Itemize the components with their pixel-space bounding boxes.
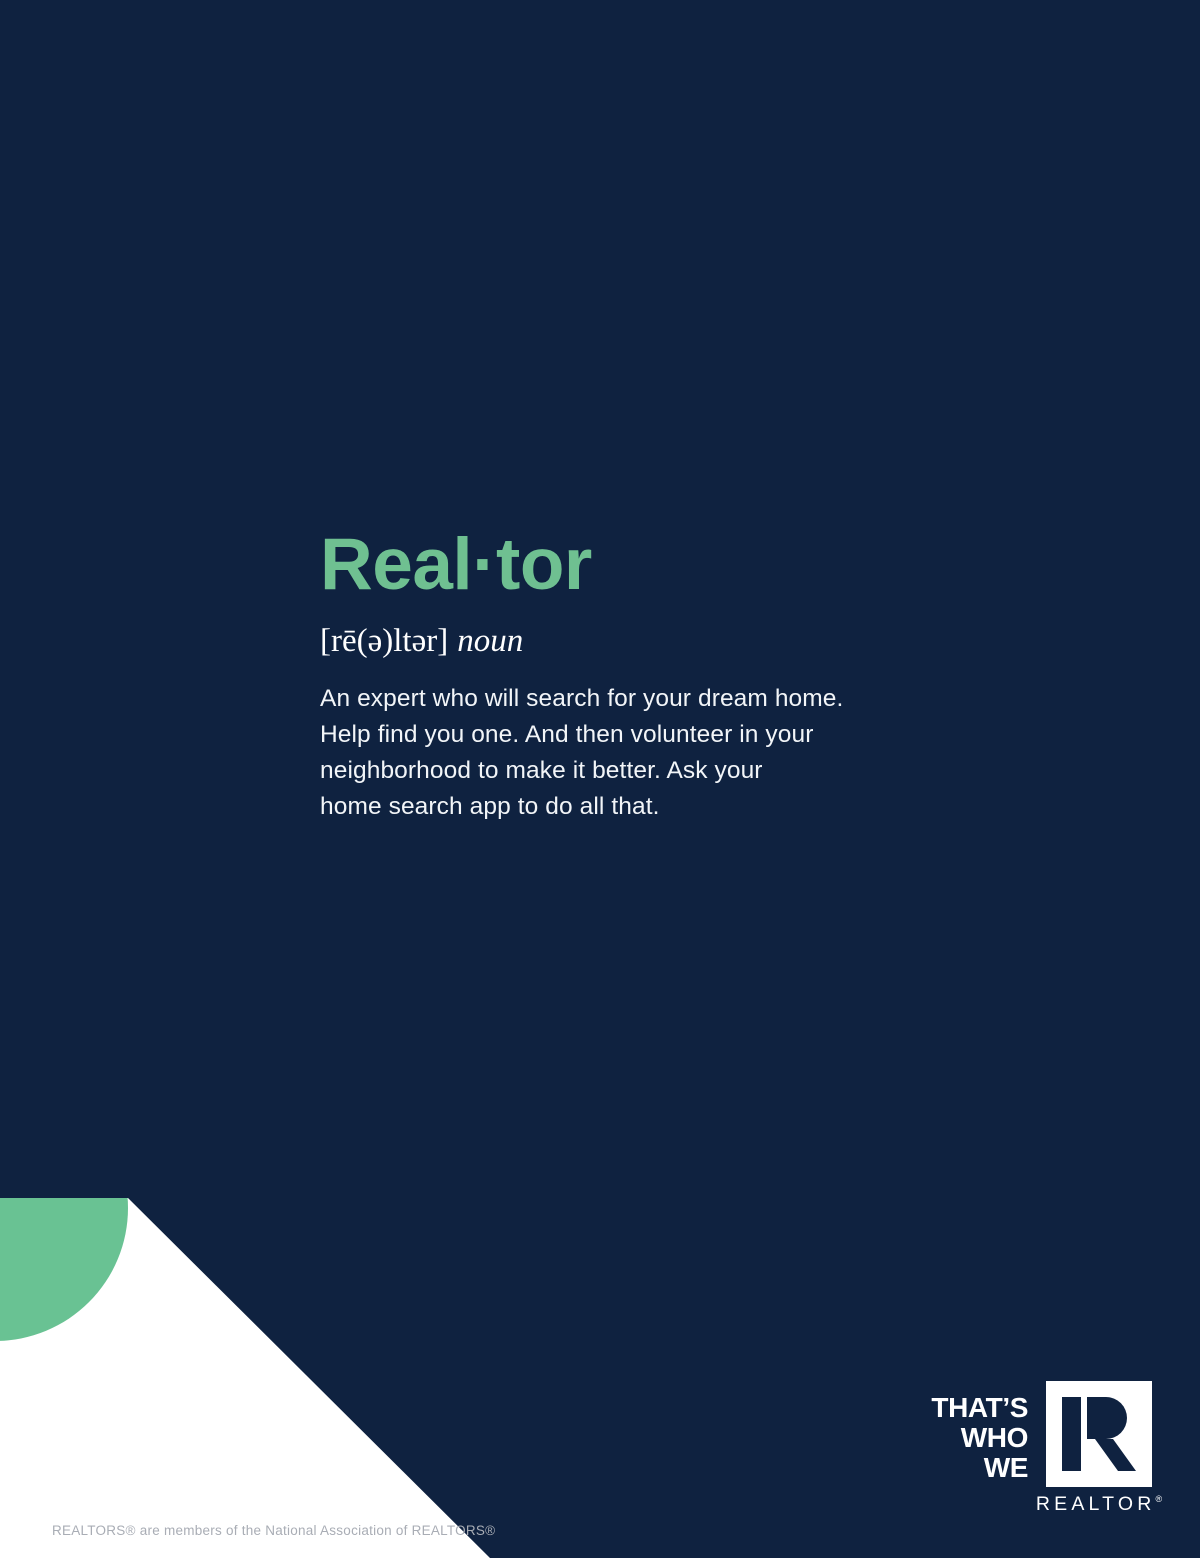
realtor-logo-mark: REALTOR ® — [1046, 1381, 1152, 1515]
tagline-line: WE — [931, 1453, 1028, 1483]
definition-line: neighborhood to make it better. Ask your — [320, 753, 960, 789]
realtor-block-r-icon — [1060, 1395, 1138, 1473]
definition-line: home search app to do all that. — [320, 789, 960, 825]
part-of-speech: noun — [457, 623, 523, 659]
definition-line: An expert who will search for your dream… — [320, 681, 960, 717]
realtor-r-box — [1046, 1381, 1152, 1487]
campaign-tagline: THAT’S WHO WE — [931, 1381, 1028, 1483]
ad-page: Real·tor [rē(ə)ltər]noun An expert who w… — [0, 0, 1200, 1558]
brand-logo-lockup: THAT’S WHO WE REALTOR ® — [931, 1381, 1152, 1515]
pronunciation-line: [rē(ə)ltər]noun — [320, 623, 960, 661]
definition-text: An expert who will search for your dream… — [320, 681, 960, 825]
tagline-line: THAT’S — [931, 1393, 1028, 1423]
definition-block: Real·tor [rē(ə)ltər]noun An expert who w… — [320, 528, 960, 825]
tagline-line: WHO — [931, 1423, 1028, 1453]
phonetic-spelling: [rē(ə)ltər] — [320, 623, 448, 659]
realtor-wordmark: REALTOR — [1036, 1495, 1156, 1515]
page-title: Real·tor — [320, 528, 960, 601]
realtor-wordmark-row: REALTOR ® — [1046, 1495, 1152, 1515]
registered-trademark-icon: ® — [1156, 1495, 1163, 1504]
footer-disclaimer: REALTORS® are members of the National As… — [52, 1523, 495, 1538]
definition-line: Help find you one. And then volunteer in… — [320, 717, 960, 753]
